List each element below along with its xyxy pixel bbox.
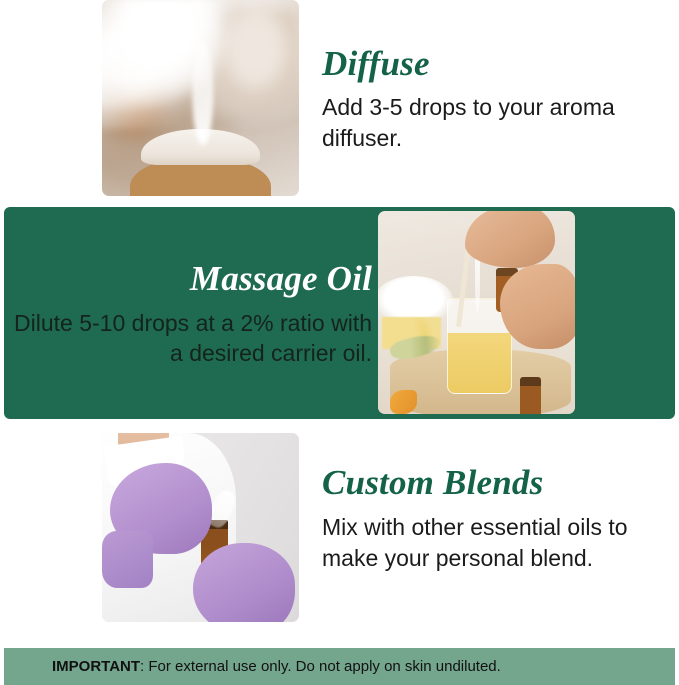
massage-amber-bottle-secondary bbox=[520, 377, 542, 414]
massage-hand-holding-dropper bbox=[465, 211, 556, 268]
diffuser-photo bbox=[102, 0, 299, 196]
blend-glove-cuff bbox=[102, 531, 153, 588]
important-notice-text: IMPORTANT: For external use only. Do not… bbox=[52, 658, 501, 675]
massage-hand-holding-bottle bbox=[500, 264, 575, 349]
important-body: For external use only. Do not apply on s… bbox=[148, 658, 500, 675]
custom-blends-heading: Custom Blends bbox=[322, 462, 543, 504]
diffuse-heading: Diffuse bbox=[322, 44, 430, 84]
diffuse-description: Add 3-5 drops to your aroma diffuser. bbox=[322, 92, 652, 154]
custom-blends-photo bbox=[102, 433, 299, 622]
important-notice-band: IMPORTANT: For external use only. Do not… bbox=[4, 648, 675, 685]
massage-oil-photo bbox=[378, 211, 575, 414]
massage-oil-description: Dilute 5-10 drops at a 2% ratio with a d… bbox=[0, 308, 372, 368]
custom-blends-description: Mix with other essential oils to make yo… bbox=[322, 512, 662, 574]
blend-gloved-hand-lower bbox=[193, 543, 295, 622]
massage-oil-heading: Massage Oil bbox=[0, 258, 372, 300]
diffuser-mist-cloud bbox=[102, 0, 240, 129]
important-label: IMPORTANT bbox=[52, 658, 140, 675]
